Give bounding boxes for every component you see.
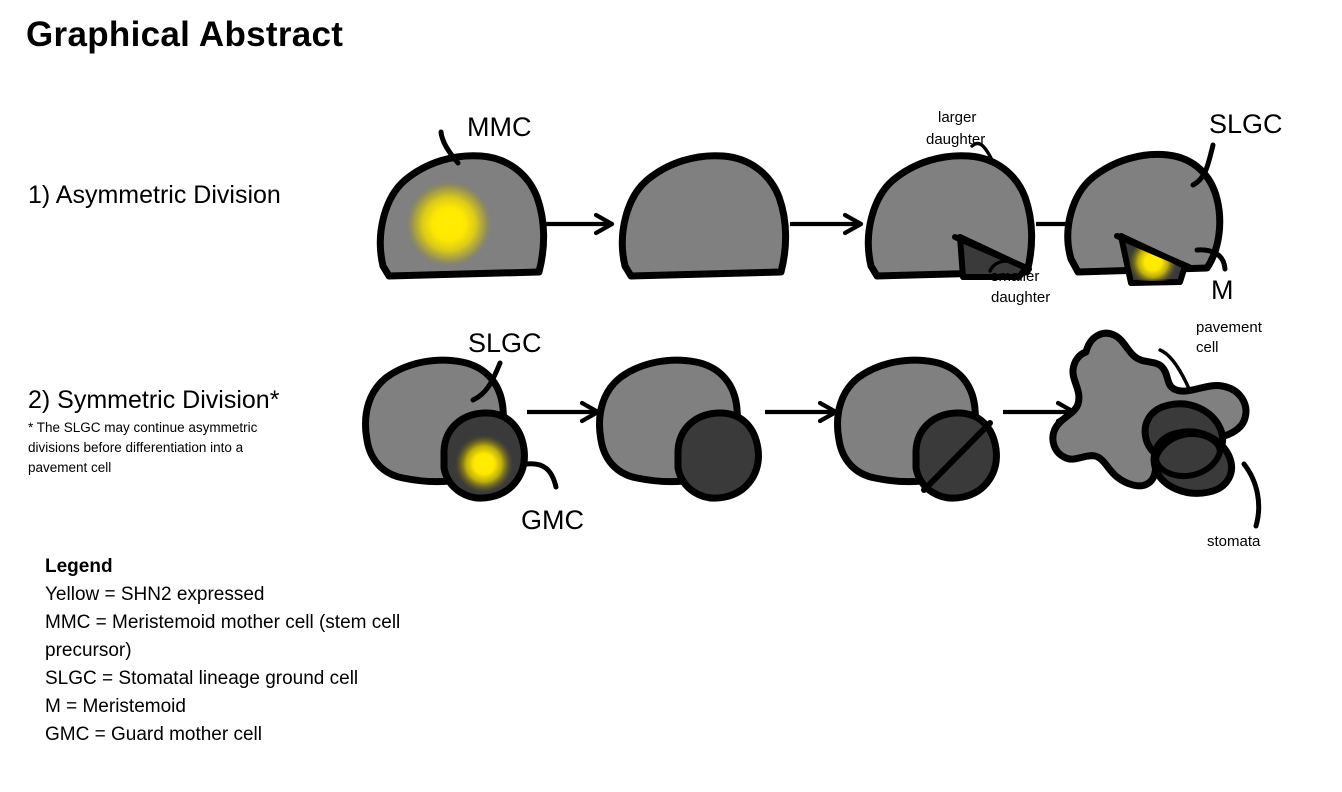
arrow-row2-1 xyxy=(527,403,598,421)
label-larger-daughter-line1: larger xyxy=(938,109,976,126)
gmc-nucleus-group xyxy=(454,434,514,494)
legend-line-1: Yellow = SHN2 expressed xyxy=(45,584,265,605)
row-title-symmetric: 2) Symmetric Division* xyxy=(28,386,280,414)
stage-1-4-slgc-m-cell: SLGC M xyxy=(1068,109,1283,305)
stage-2-4-pavement-stomata: pavement cell stomata xyxy=(1053,319,1263,550)
stage-1-2-cell xyxy=(622,156,785,276)
row-footnote-line-2: divisions before differentiation into a xyxy=(28,440,244,455)
legend-line-3: precursor) xyxy=(45,640,132,661)
graphical-abstract-page: Graphical Abstract xyxy=(0,0,1342,792)
label-gmc: GMC xyxy=(521,505,584,535)
row-asymmetric-division: 1) Asymmetric Division MMC xyxy=(28,109,1283,306)
stage-2-3-slgc-gmc-divided xyxy=(838,360,997,498)
label-pavement-cell-line1: pavement xyxy=(1196,319,1263,336)
arrow-row2-2 xyxy=(765,403,836,421)
legend-line-5: M = Meristemoid xyxy=(45,696,186,717)
stage-2-2-slgc-gmc xyxy=(600,360,759,498)
legend-heading: Legend xyxy=(45,556,113,577)
arrow-row1-1 xyxy=(541,215,612,233)
label-smaller-daughter-line2: daughter xyxy=(991,289,1050,306)
stage-1-3-divided-cell: larger daughter smaller daughter xyxy=(868,109,1050,306)
legend-block: Legend Yellow = SHN2 expressed MMC = Mer… xyxy=(45,556,400,745)
legend-line-2: MMC = Meristemoid mother cell (stem cell xyxy=(45,612,400,633)
daughter-cell-body xyxy=(622,156,785,276)
label-smaller-daughter-line1: smaller xyxy=(991,268,1039,285)
row-symmetric-division: 2) Symmetric Division* * The SLGC may co… xyxy=(28,319,1263,550)
label-slgc-row2: SLGC xyxy=(468,328,542,358)
legend-line-4: SLGC = Stomatal lineage ground cell xyxy=(45,668,358,689)
stage-2-1-slgc-gmc: SLGC GMC xyxy=(366,328,584,535)
mmc-nucleus-icon xyxy=(406,181,492,267)
graphical-abstract-diagram: 1) Asymmetric Division MMC xyxy=(0,0,1342,792)
gmc-body-2 xyxy=(678,413,758,498)
gmc-leader-line xyxy=(526,464,556,487)
gmc-nucleus-icon xyxy=(454,434,514,494)
row-footnote-line-1: * The SLGC may continue asymmetric xyxy=(28,420,258,435)
stomatal-pore xyxy=(1156,434,1220,476)
label-stomata: stomata xyxy=(1207,533,1261,550)
mmc-nucleus-group xyxy=(406,181,492,267)
stage-1-1-mmc-cell: MMC xyxy=(380,112,543,276)
label-pavement-cell-line2: cell xyxy=(1196,339,1219,356)
arrow-row1-2 xyxy=(790,215,861,233)
label-larger-daughter-line2: daughter xyxy=(926,131,985,148)
label-mmc: MMC xyxy=(467,112,531,142)
stomata-leader-line xyxy=(1244,464,1259,526)
row-footnote-line-3: pavement cell xyxy=(28,460,111,475)
legend-line-6: GMC = Guard mother cell xyxy=(45,724,262,745)
label-m: M xyxy=(1211,275,1234,305)
row-title-asymmetric: 1) Asymmetric Division xyxy=(28,181,281,209)
label-slgc-row1: SLGC xyxy=(1209,109,1283,139)
